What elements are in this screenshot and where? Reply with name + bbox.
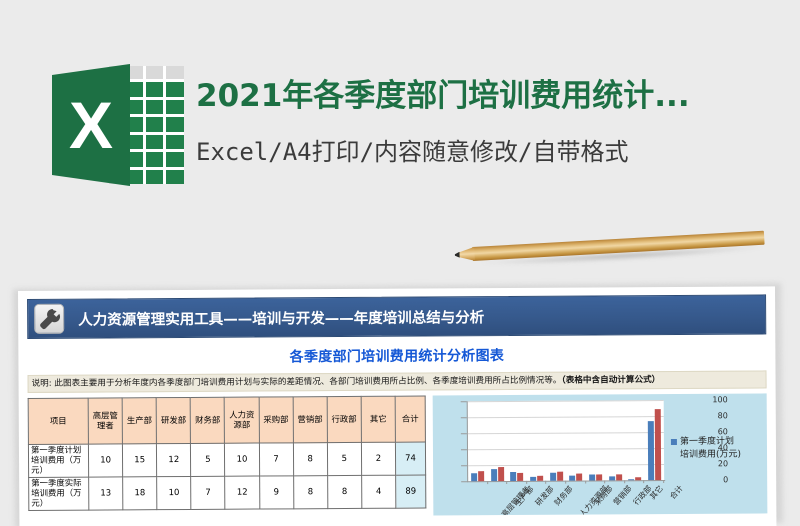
chart-x-tick: [585, 481, 586, 484]
chart-bar: [576, 474, 582, 481]
table-cell: 10: [225, 443, 259, 476]
chart-bar: [530, 477, 536, 481]
chart-bar-group: [606, 401, 623, 481]
chart-y-ticks: 020406080100: [433, 394, 767, 396]
training-cost-table: 项目 高层管理者 生产部 研发部 财务部 人力资源部 采购部 营销部 行政部 其…: [28, 396, 427, 511]
chart-x-tick: [565, 481, 566, 484]
chart-bar: [589, 475, 595, 481]
legend-swatch: [671, 439, 677, 445]
banner-title: 2021年各季度部门培训费用统计...: [196, 70, 792, 115]
table-cell: 10: [157, 477, 191, 510]
chart-bar-group: [508, 401, 525, 481]
table-header-cell: 生产部: [122, 398, 156, 444]
table-header-cell: 高层管理者: [88, 398, 122, 444]
document-subtitle: 各季度部门培训费用统计分析图表: [27, 343, 766, 368]
banner-subtitle: Excel/A4打印/内容随意修改/自带格式: [196, 132, 796, 167]
chart-bar: [635, 477, 641, 480]
table-row-label: 第一季度实际培训费用（万元）: [29, 477, 89, 510]
chart-x-tick: [604, 481, 605, 484]
promo-banner: X 2021年各季度部门培训费用统计... Excel/A4打印/内容随意修改/…: [0, 0, 800, 230]
chart-y-tick: [461, 450, 467, 451]
table-cell: 8: [293, 476, 327, 509]
document-header-title: 人力资源管理实用工具——培训与开发——年度培训总结与分析: [78, 306, 484, 329]
document-header-bar: 人力资源管理实用工具——培训与开发——年度培训总结与分析: [27, 294, 766, 339]
chart-bar: [537, 476, 543, 482]
chart-bar: [557, 472, 563, 482]
chart-y-tick: [461, 434, 467, 435]
chart-x-tick-label: 合计: [667, 483, 685, 502]
chart-bar: [569, 475, 575, 481]
chart-bar: [471, 474, 477, 482]
table-cell: 5: [191, 444, 225, 477]
chart-x-labels: 高层管理者生产部研发部财务部人力资源部采购部营销部行政部其它合计: [467, 483, 667, 515]
data-table-wrapper: 项目 高层管理者 生产部 研发部 财务部 人力资源部 采购部 营销部 行政部 其…: [28, 396, 427, 511]
table-header-cell: 采购部: [259, 397, 293, 443]
table-header-cell: 项目: [28, 399, 88, 445]
table-cell: 7: [259, 443, 293, 476]
table-cell: 4: [362, 475, 396, 508]
chart-bar: [655, 409, 661, 480]
chart-x-tick: [663, 481, 664, 484]
chart-y-tick-label: 80: [704, 412, 728, 421]
table-cell: 5: [327, 443, 361, 476]
chart-bar-group: [488, 401, 505, 481]
table-cell: 12: [157, 444, 191, 477]
table-header-cell: 其它: [361, 397, 395, 443]
chart-bar-group: [626, 401, 643, 481]
table-cell: 18: [123, 477, 157, 510]
chart-legend: 第一季度计划培训费用(万元): [671, 436, 763, 461]
chart-bar-group: [547, 401, 564, 481]
chart-y-tick: [461, 418, 467, 419]
table-header-cell: 财务部: [190, 398, 224, 444]
chart-y-tick: [461, 402, 467, 403]
chart-x-tick: [526, 481, 527, 484]
table-header-cell: 行政部: [327, 397, 361, 443]
table-cell: 8: [327, 476, 361, 509]
table-row: 第一季度计划培训费用（万元） 10 15 12 5 10 7 8 5 2 74: [28, 442, 425, 477]
chart-bar: [510, 472, 516, 482]
chart-bar: [517, 473, 523, 481]
document-note-text: 说明: 此图表主要用于分析年度内各季度部门培训费用计划与实际的差距情况、各部门培…: [32, 376, 562, 389]
chart-bar-group: [646, 401, 663, 481]
table-header-cell: 营销部: [293, 397, 327, 443]
chart-y-tick-label: 100: [704, 396, 728, 405]
chart-y-tick: [461, 482, 467, 483]
excel-logo: X: [52, 64, 184, 186]
chart-x-tick-label: 财务部: [552, 484, 575, 508]
chart-bar: [616, 474, 622, 480]
chart-bar: [550, 473, 556, 481]
document-preview: 人力资源管理实用工具——培训与开发——年度培训总结与分析 各季度部门培训费用统计…: [18, 286, 776, 526]
chart-x-tick-label: 营销部: [611, 484, 634, 508]
document-note: 说明: 此图表主要用于分析年度内各季度部门培训费用计划与实际的差距情况、各部门培…: [28, 370, 767, 393]
chart-y-tick-label: 0: [704, 476, 728, 485]
chart-bar-group: [567, 401, 584, 481]
chart-bar: [609, 477, 615, 481]
pencil-icon: [454, 223, 766, 280]
document-note-bold: （表格中含自动计算公式）: [561, 375, 660, 386]
table-header-cell: 研发部: [156, 398, 190, 444]
chart-y-tick: [461, 466, 467, 467]
table-cell-total: 89: [396, 475, 426, 508]
chart-bar: [498, 467, 504, 481]
table-cell: 8: [293, 443, 327, 476]
chart-y-tick-label: 20: [704, 460, 728, 469]
wrench-icon: [34, 304, 64, 334]
legend-label: 第一季度计划培训费用(万元): [680, 436, 742, 461]
table-row-label: 第一季度计划培训费用（万元）: [28, 445, 88, 478]
chart-bar-group: [528, 401, 545, 481]
table-cell: 2: [361, 443, 395, 476]
table-cell-total: 74: [395, 442, 425, 475]
table-cell: 9: [259, 476, 293, 509]
table-row: 第一季度实际培训费用（万元） 13 18 10 7 12 9 8 8 4 89: [29, 475, 426, 510]
chart-bar: [648, 421, 654, 480]
chart-bar: [478, 471, 484, 481]
chart-bars: [469, 401, 663, 482]
chart-bar-group: [587, 401, 604, 481]
table-header-row: 项目 高层管理者 生产部 研发部 财务部 人力资源部 采购部 营销部 行政部 其…: [28, 396, 425, 444]
chart-x-tick: [624, 481, 625, 484]
chart-x-tick-label: 研发部: [533, 484, 556, 508]
excel-logo-letter: X: [52, 64, 130, 186]
table-header-cell: 合计: [395, 396, 425, 442]
chart-x-tick: [643, 481, 644, 484]
pencil-tip: [455, 252, 460, 258]
chart-x-tick: [506, 481, 507, 484]
table-cell: 15: [123, 444, 157, 477]
table-cell: 12: [225, 476, 259, 509]
chart-bar-group: [469, 402, 486, 482]
training-cost-chart: 020406080100 高层管理者生产部研发部财务部人力资源部采购部营销部行政…: [433, 394, 768, 516]
chart-x-tick: [487, 482, 488, 485]
table-header-cell: 人力资源部: [225, 397, 259, 443]
chart-bar: [628, 479, 634, 481]
table-cell: 13: [89, 477, 123, 510]
chart-bar: [491, 470, 497, 482]
chart-x-tick: [545, 481, 546, 484]
table-cell: 7: [191, 476, 225, 509]
chart-bar: [596, 474, 602, 480]
table-cell: 10: [88, 444, 122, 477]
